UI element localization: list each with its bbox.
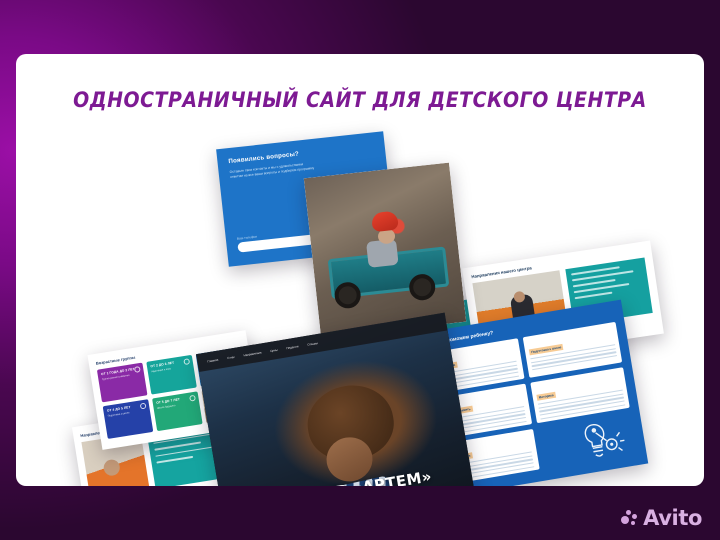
- hero-nav-item[interactable]: Педагоги: [286, 344, 299, 350]
- age-tile[interactable]: ОТ 4 ДО 5 ЛЕТ Подготовка к школе: [103, 399, 154, 439]
- age-tile[interactable]: ОТ 5 ДО 7 ЛЕТ Школа будущего: [152, 391, 203, 431]
- poster-root: ОДНОСТРАНИЧНЫЙ САЙТ ДЛЯ ДЕТСКОГО ЦЕНТРА …: [0, 0, 720, 540]
- page-title: ОДНОСТРАНИЧНЫЙ САЙТ ДЛЯ ДЕТСКОГО ЦЕНТРА: [57, 88, 662, 113]
- kart-wheel: [333, 281, 362, 310]
- faq-card-heading: Моторика: [536, 392, 556, 401]
- slide-kart-photo: [304, 163, 466, 338]
- age-tile[interactable]: ОТ 1 ГОДА ДО 2 ЛЕТ Группа раннего развит…: [97, 363, 148, 403]
- kart-helmet-icon: [371, 210, 399, 232]
- directions-list-item: [574, 292, 613, 299]
- avito-dots-icon: [621, 510, 638, 527]
- avito-watermark: Avito: [621, 506, 702, 530]
- lightbulb-key-icon: [566, 413, 629, 468]
- programs-photo-child: [103, 459, 121, 477]
- hero-nav-item[interactable]: Отзывы: [307, 341, 318, 347]
- hero-nav-item[interactable]: Главная: [207, 358, 219, 364]
- white-card-canvas: ОДНОСТРАНИЧНЫЙ САЙТ ДЛЯ ДЕТСКОГО ЦЕНТРА …: [16, 54, 704, 486]
- avito-wordmark: Avito: [643, 506, 702, 530]
- programs-list-item: [156, 456, 193, 463]
- hero-nav-item[interactable]: Направления: [243, 350, 261, 357]
- kart-photo: [304, 163, 466, 338]
- hero-nav-item[interactable]: Цены: [270, 348, 278, 353]
- hero-nav-item[interactable]: О нас: [227, 355, 235, 360]
- questions-body: Оставьте свои контакты и мы с удовольств…: [229, 161, 315, 181]
- age-tile[interactable]: ОТ 2 ДО 3 ЛЕТ Адаптация и игра: [146, 355, 197, 395]
